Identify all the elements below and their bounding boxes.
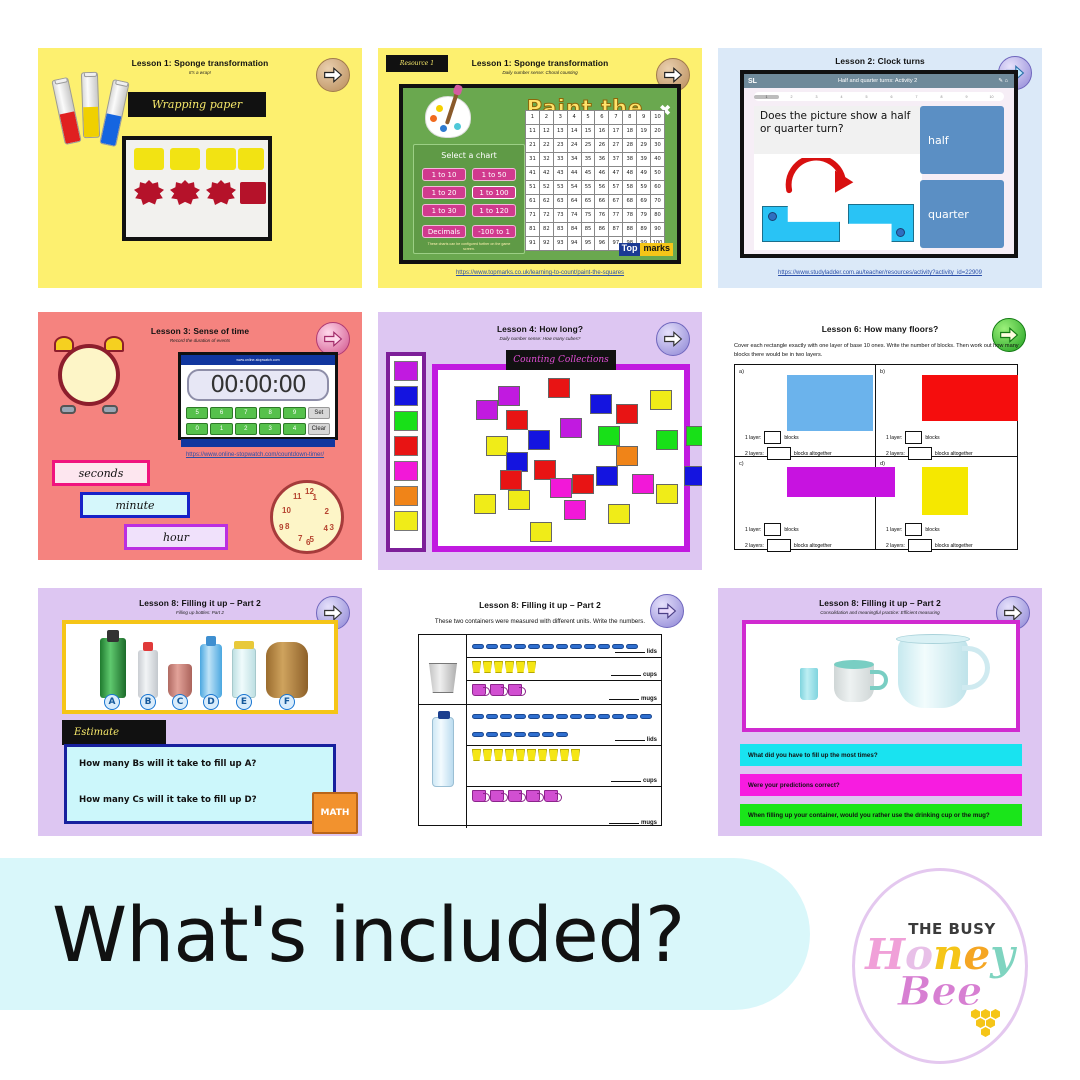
- option-quarter[interactable]: quarter: [920, 180, 1004, 248]
- sponge-print-photo: [122, 136, 272, 241]
- activity-step[interactable]: 5: [854, 95, 879, 99]
- hundred-grid-cell[interactable]: 83: [554, 223, 567, 236]
- hundred-grid-cell[interactable]: 90: [651, 223, 664, 236]
- hundred-grid-cell[interactable]: 56: [595, 181, 608, 194]
- palette-swatch[interactable]: [394, 511, 418, 531]
- hundred-grid-cell[interactable]: 33: [554, 153, 567, 166]
- studyladder-window-title: Half and quarter turns: Activity 2: [757, 78, 998, 84]
- chart-button-1-to-50[interactable]: 1 to 50: [472, 168, 516, 181]
- stopwatch-key-7[interactable]: 7: [235, 407, 257, 419]
- the-busy-honey-bee-logo: THE BUSY Honey Bee: [852, 868, 1028, 1064]
- hundred-grid-cell[interactable]: 48: [623, 167, 636, 180]
- floors-cell-b: b)1 layer:blocks2 layers:blocks altogeth…: [876, 365, 1017, 457]
- counting-square[interactable]: [528, 430, 550, 450]
- hundred-grid-cell[interactable]: 87: [609, 223, 622, 236]
- one-layer-row: 1 layer:blocks: [886, 523, 940, 536]
- counting-square[interactable]: [632, 474, 654, 494]
- lid-icon: [514, 714, 526, 719]
- vessel-d: [200, 644, 222, 698]
- activity-question: Does the picture show a half or quarter …: [754, 106, 922, 154]
- hundred-grid-cell[interactable]: 5: [582, 111, 595, 124]
- hundred-grid-cell[interactable]: 26: [595, 139, 608, 152]
- hundred-grid-cell[interactable]: 67: [609, 195, 622, 208]
- one-layer-input[interactable]: [764, 523, 781, 536]
- counting-square[interactable]: [616, 404, 638, 424]
- hundred-grid-cell[interactable]: 12: [540, 125, 553, 138]
- cup-icon: [516, 749, 525, 761]
- lid-icon: [598, 714, 610, 719]
- slide-2-url[interactable]: https://www.topmarks.co.uk/learning-to-c…: [378, 270, 702, 276]
- activity-step[interactable]: 4: [829, 95, 854, 99]
- activity-step[interactable]: 7: [904, 95, 929, 99]
- slide-card-5[interactable]: Lesson 4: How long? Daily number sense: …: [378, 312, 702, 570]
- hundred-grid-cell[interactable]: 60: [651, 181, 664, 194]
- one-layer-input[interactable]: [905, 523, 922, 536]
- hundred-grid-cell[interactable]: 85: [582, 223, 595, 236]
- hundred-grid-cell[interactable]: 38: [623, 153, 636, 166]
- edit-icon[interactable]: ✎ ⌂: [998, 78, 1014, 84]
- wrapping-paper-label: Wrapping paper: [152, 98, 242, 111]
- lids-label-2: lids: [615, 737, 657, 743]
- slide-7-title: Lesson 8: Filling it up – Part 2: [38, 598, 362, 608]
- honeycomb-icon: [971, 1009, 1007, 1037]
- hundred-grid-cell[interactable]: 1: [526, 111, 539, 124]
- counting-square[interactable]: [506, 410, 528, 430]
- slide-8-instruction: These two containers were measured with …: [386, 618, 694, 625]
- hundred-grid-cell[interactable]: 20: [651, 125, 664, 138]
- cup-icon: [505, 749, 514, 761]
- children-clock-image: 121 23 45 67 89 1011: [270, 480, 344, 554]
- slide-4-url[interactable]: https://www.online-stopwatch.com/countdo…: [158, 452, 352, 458]
- lid-icon: [570, 714, 582, 719]
- hundred-grid-cell[interactable]: 43: [554, 167, 567, 180]
- hundred-grid-cell[interactable]: 52: [540, 181, 553, 194]
- chart-button-minus100-to-1[interactable]: -100 to 1: [472, 225, 516, 238]
- letter-a: A: [104, 694, 120, 710]
- hundred-grid-cell[interactable]: 69: [637, 195, 650, 208]
- discussion-question-2-label: Were your predictions correct?: [748, 782, 840, 789]
- slide-card-8[interactable]: Lesson 8: Filling it up – Part 2 These t…: [378, 588, 702, 836]
- lid-icon: [598, 644, 610, 649]
- next-arrow-button[interactable]: [316, 58, 350, 92]
- hundred-grid-cell[interactable]: 68: [623, 195, 636, 208]
- activity-step[interactable]: 3: [804, 95, 829, 99]
- letter-b: B: [140, 694, 156, 710]
- hundred-grid-cell[interactable]: 94: [568, 237, 581, 250]
- hundred-grid-cell[interactable]: 96: [595, 237, 608, 250]
- hundred-grid-cell[interactable]: 86: [595, 223, 608, 236]
- one-layer-unit: blocks: [925, 527, 939, 533]
- hundred-grid-cell[interactable]: 45: [582, 167, 595, 180]
- hundred-grid-cell[interactable]: 49: [637, 167, 650, 180]
- counting-square[interactable]: [564, 500, 586, 520]
- mug-icon: [544, 790, 558, 802]
- counting-square[interactable]: [650, 390, 672, 410]
- hundred-grid-cell[interactable]: 29: [637, 139, 650, 152]
- counting-square[interactable]: [686, 426, 702, 446]
- lid-icon: [528, 714, 540, 719]
- hundred-grid-cell[interactable]: 16: [595, 125, 608, 138]
- hundred-grid-cell[interactable]: 66: [595, 195, 608, 208]
- slide-3-url[interactable]: https://www.studyladder.com.au/teacher/r…: [718, 270, 1042, 276]
- lid-icon: [528, 644, 540, 649]
- stopwatch-key-3[interactable]: 3: [259, 423, 281, 435]
- hundred-grid-cell[interactable]: 73: [554, 209, 567, 222]
- counting-collections-canvas: [432, 364, 690, 552]
- two-layers-label: 2 layers:: [745, 543, 764, 549]
- hundred-grid-cell[interactable]: 62: [540, 195, 553, 208]
- two-layers-input[interactable]: [908, 539, 932, 552]
- one-layer-label: 1 layer:: [886, 527, 902, 533]
- stopwatch-key-1[interactable]: 1: [210, 423, 232, 435]
- corner-dot-right: [896, 228, 905, 237]
- jug-cup-image: [742, 620, 1020, 732]
- curved-arrow-icon: [780, 158, 890, 200]
- hundred-grid-cell[interactable]: 14: [568, 125, 581, 138]
- counting-square[interactable]: [530, 522, 552, 542]
- counting-square[interactable]: [506, 452, 528, 472]
- counting-square[interactable]: [590, 394, 612, 414]
- drinking-glass: [800, 668, 818, 700]
- one-layer-input[interactable]: [905, 431, 922, 444]
- hundred-grid-cell[interactable]: 6: [595, 111, 608, 124]
- lid-icon: [542, 644, 554, 649]
- discussion-question-2: Were your predictions correct?: [740, 774, 1022, 796]
- two-layers-row: 2 layers:blocks altogether: [745, 539, 832, 552]
- hundred-square-grid[interactable]: 1234567891011121314151617181920212223242…: [525, 110, 665, 251]
- stopwatch-footer: [181, 439, 335, 447]
- hundred-grid-cell[interactable]: 63: [554, 195, 567, 208]
- one-layer-row: 1 layer:blocks: [886, 431, 940, 444]
- vessel-e: [232, 648, 256, 698]
- one-layer-label: 1 layer:: [745, 435, 761, 441]
- counting-square[interactable]: [616, 446, 638, 466]
- hundred-grid-cell[interactable]: 23: [554, 139, 567, 152]
- table-row: mugs: [467, 681, 661, 704]
- hundred-grid-cell[interactable]: 58: [623, 181, 636, 194]
- counting-square[interactable]: [596, 466, 618, 486]
- jug-body: [898, 638, 968, 708]
- word-hour-label: hour: [163, 531, 189, 544]
- cup-icon: [538, 749, 547, 761]
- counting-square[interactable]: [548, 378, 570, 398]
- table-row: cups: [467, 658, 661, 681]
- chart-panel-note: These charts can be configured further o…: [414, 238, 524, 252]
- stopwatch-key-6[interactable]: 6: [210, 407, 232, 419]
- two-layers-row: 2 layers:blocks altogether: [886, 539, 973, 552]
- wrapping-paper-banner: Wrapping paper: [128, 92, 266, 117]
- topmarks-app-screenshot: ✖ Paint the Squares Select a chart 1 to …: [399, 84, 681, 264]
- hundred-grid-cell[interactable]: 84: [568, 223, 581, 236]
- stopwatch-key-9[interactable]: 9: [283, 407, 305, 419]
- counting-collections-label: Counting Collections: [513, 355, 609, 365]
- hundred-grid-cell[interactable]: 24: [568, 139, 581, 152]
- cups-label-1: cups: [611, 672, 657, 678]
- hundred-grid-cell[interactable]: 17: [609, 125, 622, 138]
- counting-square[interactable]: [486, 436, 508, 456]
- counting-square[interactable]: [684, 466, 702, 486]
- lid-icon: [542, 714, 554, 719]
- hundred-grid-cell[interactable]: 4: [568, 111, 581, 124]
- slide-2-subtitle: Daily number sense: Choral counting: [378, 70, 702, 75]
- mug-icon: [490, 684, 504, 696]
- hundred-grid-cell[interactable]: 95: [582, 237, 595, 250]
- logo-bee-word: Bee: [898, 972, 983, 1012]
- hundred-grid-cell[interactable]: 91: [526, 237, 539, 250]
- hundred-grid-cell[interactable]: 22: [540, 139, 553, 152]
- palette-swatch[interactable]: [394, 436, 418, 456]
- hundred-grid-cell[interactable]: 36: [595, 153, 608, 166]
- bucket-icon: [427, 663, 459, 693]
- slide-1-title: Lesson 1: Sponge transformation: [38, 58, 362, 68]
- hundred-grid-cell[interactable]: 76: [595, 209, 608, 222]
- slide-card-1[interactable]: Lesson 1: Sponge transformation It's a w…: [38, 48, 362, 288]
- estimate-question-2: How many Cs will it take to fill up D?: [79, 795, 321, 805]
- lid-icon: [500, 732, 512, 737]
- option-half[interactable]: half: [920, 106, 1004, 174]
- slide-5-title: Lesson 4: How long?: [378, 324, 702, 334]
- slide-card-2[interactable]: Resource 1 Lesson 1: Sponge transformati…: [378, 48, 702, 288]
- hundred-grid-cell[interactable]: 9: [637, 111, 650, 124]
- activity-step[interactable]: 9: [954, 95, 979, 99]
- hundred-grid-cell[interactable]: 37: [609, 153, 622, 166]
- hundred-grid-cell[interactable]: 35: [582, 153, 595, 166]
- hundred-grid-cell[interactable]: 50: [651, 167, 664, 180]
- chart-button-1-to-120[interactable]: 1 to 120: [472, 204, 516, 217]
- cup-icon: [549, 749, 558, 761]
- lid-icon: [528, 732, 540, 737]
- hundred-grid-cell[interactable]: 11: [526, 125, 539, 138]
- hundred-grid-cell[interactable]: 51: [526, 181, 539, 194]
- stopwatch-key-4[interactable]: 4: [283, 423, 305, 435]
- stopwatch-key-2[interactable]: 2: [235, 423, 257, 435]
- studyladder-window: SL Half and quarter turns: Activity 2 ✎ …: [740, 70, 1018, 258]
- chart-button-1-to-20[interactable]: 1 to 20: [422, 186, 466, 199]
- hundred-grid-cell[interactable]: 82: [540, 223, 553, 236]
- activity-step[interactable]: 8: [929, 95, 954, 99]
- stopwatch-keypad-row2[interactable]: 01234Clear: [181, 421, 335, 437]
- hundred-grid-cell[interactable]: 57: [609, 181, 622, 194]
- lid-icon: [542, 732, 554, 737]
- mug-icon: [472, 790, 486, 802]
- palette-swatch[interactable]: [394, 361, 418, 381]
- chart-button-grid-2: Decimals -100 to 1: [414, 217, 524, 238]
- chart-button-1-to-30[interactable]: 1 to 30: [422, 204, 466, 217]
- hundred-grid-cell[interactable]: 7: [609, 111, 622, 124]
- hundred-grid-cell[interactable]: 10: [651, 111, 664, 124]
- hundred-grid-cell[interactable]: 59: [637, 181, 650, 194]
- hundred-grid-cell[interactable]: 71: [526, 209, 539, 222]
- palette-swatch[interactable]: [394, 461, 418, 481]
- lid-icon: [472, 644, 484, 649]
- lid-icon: [584, 644, 596, 649]
- hundred-grid-cell[interactable]: 88: [623, 223, 636, 236]
- cup-icon: [560, 749, 569, 761]
- counting-square[interactable]: [598, 426, 620, 446]
- table-row: mugs: [467, 787, 661, 828]
- counting-square[interactable]: [500, 470, 522, 490]
- cell-rectangle: [922, 375, 1018, 421]
- slide-9-title: Lesson 8: Filling it up – Part 2: [718, 598, 1042, 608]
- palette-swatch[interactable]: [394, 486, 418, 506]
- counting-square[interactable]: [534, 460, 556, 480]
- word-seconds-label: seconds: [79, 467, 124, 480]
- counting-square[interactable]: [656, 430, 678, 450]
- one-layer-row: 1 layer:blocks: [745, 523, 799, 536]
- two-layers-input[interactable]: [767, 539, 791, 552]
- slide-card-3[interactable]: Lesson 2: Clock turns SL Half and quarte…: [718, 48, 1042, 288]
- hundred-grid-cell[interactable]: 89: [637, 223, 650, 236]
- containers-image: A B C D E F: [62, 620, 338, 714]
- color-palette-strip[interactable]: [386, 352, 426, 552]
- hundred-grid-cell[interactable]: 41: [526, 167, 539, 180]
- hundred-grid-cell[interactable]: 93: [554, 237, 567, 250]
- hundred-grid-cell[interactable]: 21: [526, 139, 539, 152]
- slide-6-instruction: Cover each rectangle exactly with one la…: [734, 342, 1026, 360]
- hundred-grid-cell[interactable]: 40: [651, 153, 664, 166]
- hundred-grid-cell[interactable]: 2: [540, 111, 553, 124]
- activity-step[interactable]: 2: [779, 95, 804, 99]
- hundred-grid-cell[interactable]: 70: [651, 195, 664, 208]
- hundred-grid-cell[interactable]: 15: [582, 125, 595, 138]
- cup-icon: [494, 661, 503, 673]
- vessel-b-cap: [143, 642, 153, 651]
- chart-button-1-to-100[interactable]: 1 to 100: [472, 186, 516, 199]
- counting-square[interactable]: [476, 400, 498, 420]
- bottle-cell: [419, 705, 467, 828]
- counting-square[interactable]: [656, 484, 678, 504]
- counting-square[interactable]: [550, 478, 572, 498]
- hundred-grid-cell[interactable]: 46: [595, 167, 608, 180]
- stopwatch-key-0[interactable]: 0: [186, 423, 208, 435]
- bucket-unit-rows: lids cups mugs: [467, 635, 661, 705]
- chart-button-decimals[interactable]: Decimals: [422, 225, 466, 238]
- palette-swatch[interactable]: [394, 411, 418, 431]
- hundred-grid-cell[interactable]: 65: [582, 195, 595, 208]
- topmarks-logo-top: Top: [619, 243, 641, 256]
- hundred-grid-cell[interactable]: 8: [623, 111, 636, 124]
- hundred-grid-cell[interactable]: 31: [526, 153, 539, 166]
- lid-icon: [472, 714, 484, 719]
- hundred-grid-cell[interactable]: 47: [609, 167, 622, 180]
- two-layers-unit: blocks altogether: [794, 451, 832, 457]
- hundred-grid-cell[interactable]: 64: [568, 195, 581, 208]
- word-card-minute[interactable]: minute: [80, 492, 190, 518]
- hundred-grid-cell[interactable]: 61: [526, 195, 539, 208]
- stopwatch-key-set[interactable]: Set: [308, 407, 330, 419]
- hundred-grid-cell[interactable]: 25: [582, 139, 595, 152]
- counting-square[interactable]: [608, 504, 630, 524]
- counting-square[interactable]: [498, 386, 520, 406]
- one-layer-row: 1 layer:blocks: [745, 431, 799, 444]
- activity-step-bar[interactable]: 12345678910: [754, 92, 1004, 101]
- hundred-grid-cell[interactable]: 78: [623, 209, 636, 222]
- lid-icon: [486, 714, 498, 719]
- hundred-grid-cell[interactable]: 81: [526, 223, 539, 236]
- hundred-grid-cell[interactable]: 54: [568, 181, 581, 194]
- hundred-grid-cell[interactable]: 19: [637, 125, 650, 138]
- next-arrow-button[interactable]: [656, 322, 690, 356]
- slide-card-7[interactable]: Lesson 8: Filling it up – Part 2 Filling…: [38, 588, 362, 836]
- hundred-grid-cell[interactable]: 80: [651, 209, 664, 222]
- hundred-grid-cell[interactable]: 79: [637, 209, 650, 222]
- hundred-grid-cell[interactable]: 27: [609, 139, 622, 152]
- hundred-grid-cell[interactable]: 32: [540, 153, 553, 166]
- cup-icon: [516, 661, 525, 673]
- lid-icon: [570, 644, 582, 649]
- counting-square[interactable]: [572, 474, 594, 494]
- hundred-grid-cell[interactable]: 28: [623, 139, 636, 152]
- hundred-grid-cell[interactable]: 39: [637, 153, 650, 166]
- mugs-label-2: mugs: [609, 820, 657, 826]
- lid-icon: [486, 644, 498, 649]
- mug-icon: [508, 684, 522, 696]
- hundred-grid-cell[interactable]: 34: [568, 153, 581, 166]
- stopwatch-key-clear[interactable]: Clear: [308, 423, 330, 435]
- lid-icon: [514, 644, 526, 649]
- lid-icon: [584, 714, 596, 719]
- palette-swatch[interactable]: [394, 386, 418, 406]
- cup-icon: [494, 749, 503, 761]
- slide-card-4[interactable]: Lesson 3: Sense of time Record the durat…: [38, 312, 362, 560]
- hundred-grid-cell[interactable]: 30: [651, 139, 664, 152]
- vessel-f: [266, 642, 308, 698]
- hundred-grid-cell[interactable]: 44: [568, 167, 581, 180]
- one-layer-input[interactable]: [764, 431, 781, 444]
- word-card-hour[interactable]: hour: [124, 524, 228, 550]
- hundred-grid-cell[interactable]: 75: [582, 209, 595, 222]
- math-book-label: MATH: [321, 808, 350, 818]
- hundred-grid-cell[interactable]: 18: [623, 125, 636, 138]
- stopwatch-key-8[interactable]: 8: [259, 407, 281, 419]
- hundred-grid-cell[interactable]: 55: [582, 181, 595, 194]
- next-arrow-button[interactable]: [316, 322, 350, 356]
- slide-7-subtitle: Filling up bottles: Part 2: [38, 610, 362, 615]
- cup-icon: [472, 661, 481, 673]
- hundred-grid-cell[interactable]: 74: [568, 209, 581, 222]
- two-layers-label: 2 layers:: [886, 451, 905, 457]
- hundred-grid-cell[interactable]: 42: [540, 167, 553, 180]
- counting-square[interactable]: [474, 494, 496, 514]
- hundred-grid-cell[interactable]: 53: [554, 181, 567, 194]
- activity-step[interactable]: 1: [754, 95, 779, 99]
- hundred-grid-cell[interactable]: 3: [554, 111, 567, 124]
- slide-2-title: Lesson 1: Sponge transformation: [378, 58, 702, 68]
- stopwatch-key-5[interactable]: 5: [186, 407, 208, 419]
- studyladder-logo: SL: [744, 78, 757, 85]
- activity-step[interactable]: 6: [879, 95, 904, 99]
- word-card-seconds[interactable]: seconds: [52, 460, 150, 486]
- hundred-grid-cell[interactable]: 77: [609, 209, 622, 222]
- select-chart-heading: Select a chart: [414, 151, 524, 160]
- activity-step[interactable]: 10: [979, 95, 1004, 99]
- estimate-tab-label: Estimate: [74, 727, 119, 738]
- one-layer-unit: blocks: [784, 435, 798, 441]
- chart-button-1-to-10[interactable]: 1 to 10: [422, 168, 466, 181]
- counting-square[interactable]: [560, 418, 582, 438]
- slide-card-9[interactable]: Lesson 8: Filling it up – Part 2 Consoli…: [718, 588, 1042, 836]
- counting-square[interactable]: [508, 490, 530, 510]
- chart-button-grid: 1 to 10 1 to 50 1 to 20 1 to 100 1 to 30…: [414, 160, 524, 217]
- hundred-grid-cell[interactable]: 92: [540, 237, 553, 250]
- hundred-grid-cell[interactable]: 13: [554, 125, 567, 138]
- lid-icon: [556, 644, 568, 649]
- topmarks-logo-marks: marks: [640, 243, 673, 256]
- floors-cell-a: a)1 layer:blocks2 layers:blocks altogeth…: [735, 365, 876, 457]
- stopwatch-keypad-row1[interactable]: 56789Set: [181, 405, 335, 421]
- hundred-grid-cell[interactable]: 72: [540, 209, 553, 222]
- slide-card-6[interactable]: Lesson 6: How many floors? Cover each re…: [718, 312, 1042, 570]
